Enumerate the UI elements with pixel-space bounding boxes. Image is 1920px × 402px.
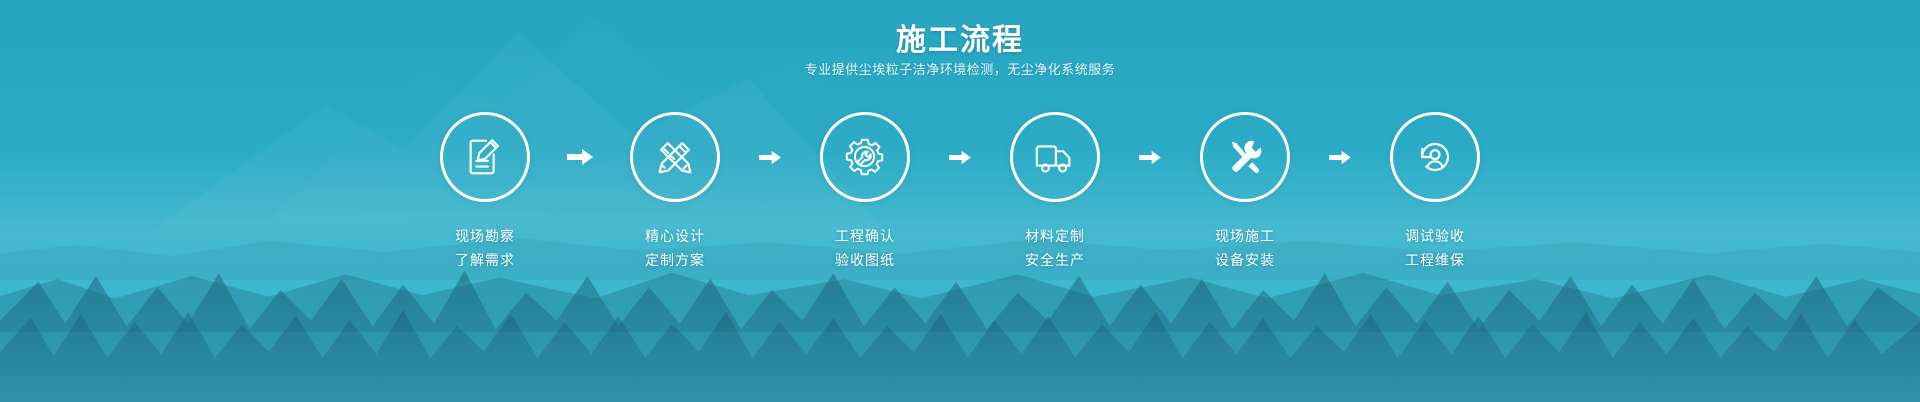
process-arrow-2 (746, 112, 794, 202)
step-4-label: 材料定制 安全生产 (1025, 224, 1085, 272)
arrow-right-icon (1329, 150, 1351, 165)
process-arrow-3 (936, 112, 984, 202)
process-banner: 施工流程 专业提供尘埃粒子洁净环境检测，无尘净化系统服务 (0, 0, 1920, 402)
process-arrow-5 (1316, 112, 1364, 202)
banner-content: 施工流程 专业提供尘埃粒子洁净环境检测，无尘净化系统服务 (0, 0, 1920, 402)
page-subtitle: 专业提供尘埃粒子洁净环境检测，无尘净化系统服务 (0, 59, 1920, 78)
step-1-icon-circle (440, 112, 530, 202)
step-5-line1: 现场施工 (1215, 228, 1275, 244)
pencil-ruler-cross-icon (652, 134, 698, 180)
step-3-line2: 验收图纸 (835, 248, 895, 272)
process-arrow-1 (556, 112, 604, 202)
step-5-label: 现场施工 设备安装 (1215, 224, 1275, 272)
process-step-1[interactable]: 现场勘察 了解需求 (414, 112, 556, 272)
step-5-icon-circle (1200, 112, 1290, 202)
step-5-line2: 设备安装 (1215, 248, 1275, 272)
step-4-icon-circle (1010, 112, 1100, 202)
arrow-right-icon (759, 150, 781, 165)
step-3-icon-circle (820, 112, 910, 202)
step-1-line2: 了解需求 (455, 248, 515, 272)
step-2-icon-circle (630, 112, 720, 202)
user-refresh-icon (1412, 134, 1458, 180)
arrow-right-icon (1139, 150, 1161, 165)
process-step-list: 现场勘察 了解需求 (414, 112, 1506, 272)
gear-wrench-icon (842, 134, 888, 180)
delivery-truck-icon (1032, 134, 1078, 180)
step-3-line1: 工程确认 (835, 228, 895, 244)
step-1-label: 现场勘察 了解需求 (455, 224, 515, 272)
process-step-3[interactable]: 工程确认 验收图纸 (794, 112, 936, 272)
step-3-label: 工程确认 验收图纸 (835, 224, 895, 272)
step-6-icon-circle (1390, 112, 1480, 202)
step-2-line1: 精心设计 (645, 228, 705, 244)
step-4-line1: 材料定制 (1025, 228, 1085, 244)
step-2-line2: 定制方案 (645, 248, 705, 272)
step-6-line2: 工程维保 (1405, 248, 1465, 272)
document-pencil-icon (462, 134, 508, 180)
step-6-label: 调试验收 工程维保 (1405, 224, 1465, 272)
arrow-right-icon (949, 150, 971, 165)
process-step-6[interactable]: 调试验收 工程维保 (1364, 112, 1506, 272)
arrow-right-icon (567, 148, 593, 166)
process-arrow-4 (1126, 112, 1174, 202)
process-step-5[interactable]: 现场施工 设备安装 (1174, 112, 1316, 272)
step-6-line1: 调试验收 (1405, 228, 1465, 244)
step-2-label: 精心设计 定制方案 (645, 224, 705, 272)
page-title: 施工流程 (0, 15, 1920, 59)
process-step-4[interactable]: 材料定制 安全生产 (984, 112, 1126, 272)
step-1-line1: 现场勘察 (455, 228, 515, 244)
wrench-screwdriver-icon (1222, 134, 1268, 180)
process-step-2[interactable]: 精心设计 定制方案 (604, 112, 746, 272)
step-4-line2: 安全生产 (1025, 248, 1085, 272)
